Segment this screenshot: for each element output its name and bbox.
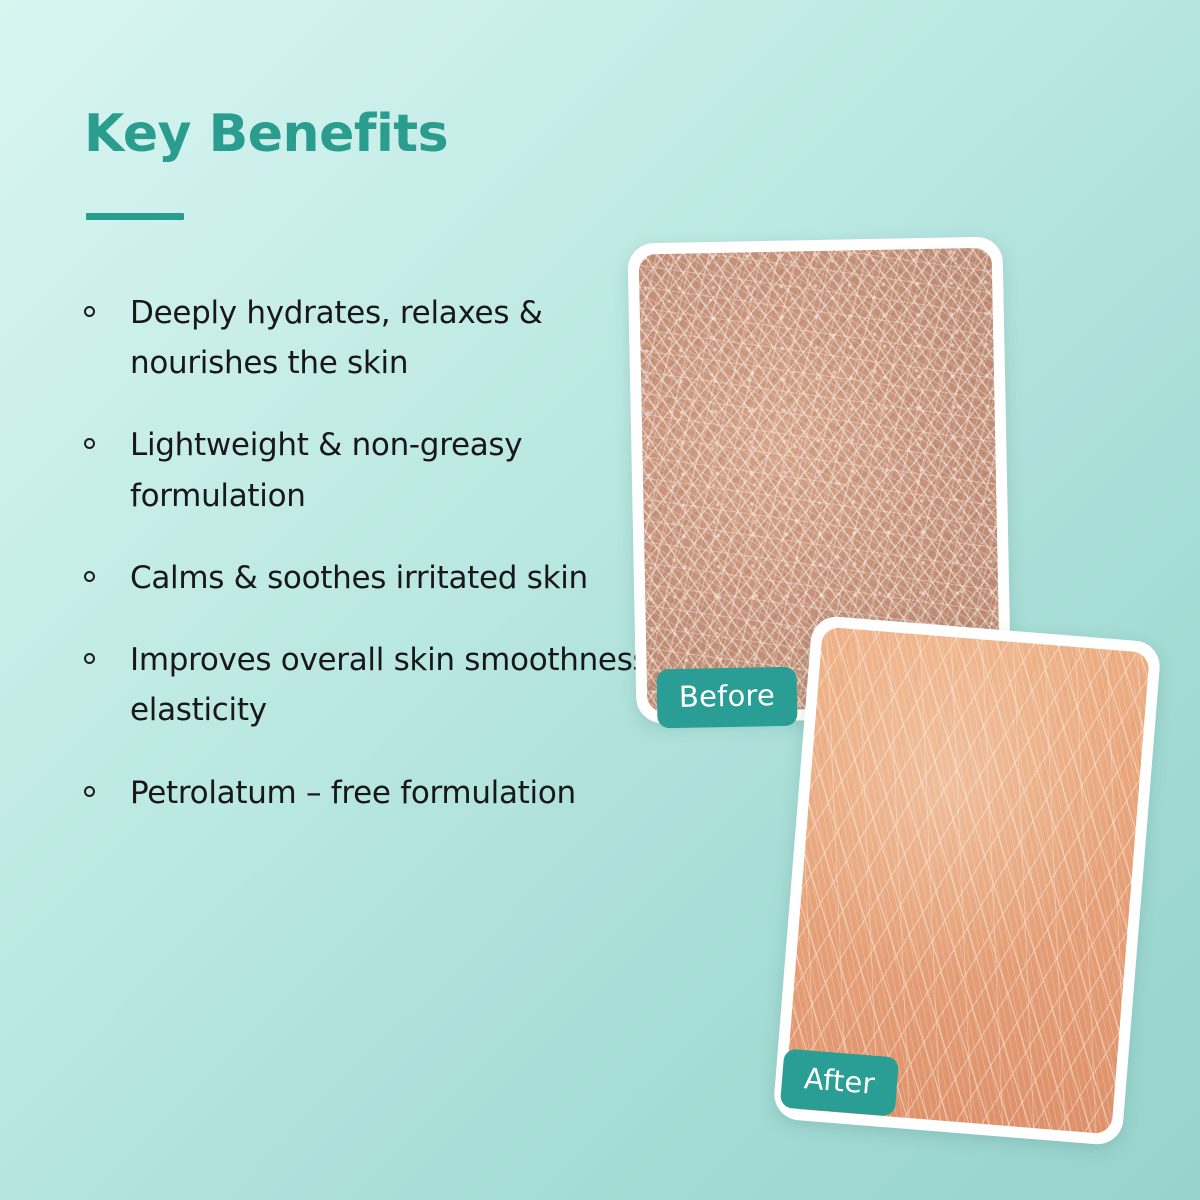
before-after-photo-group: Before After — [0, 0, 1200, 1200]
before-badge: Before — [656, 667, 797, 729]
after-badge: After — [780, 1048, 899, 1116]
